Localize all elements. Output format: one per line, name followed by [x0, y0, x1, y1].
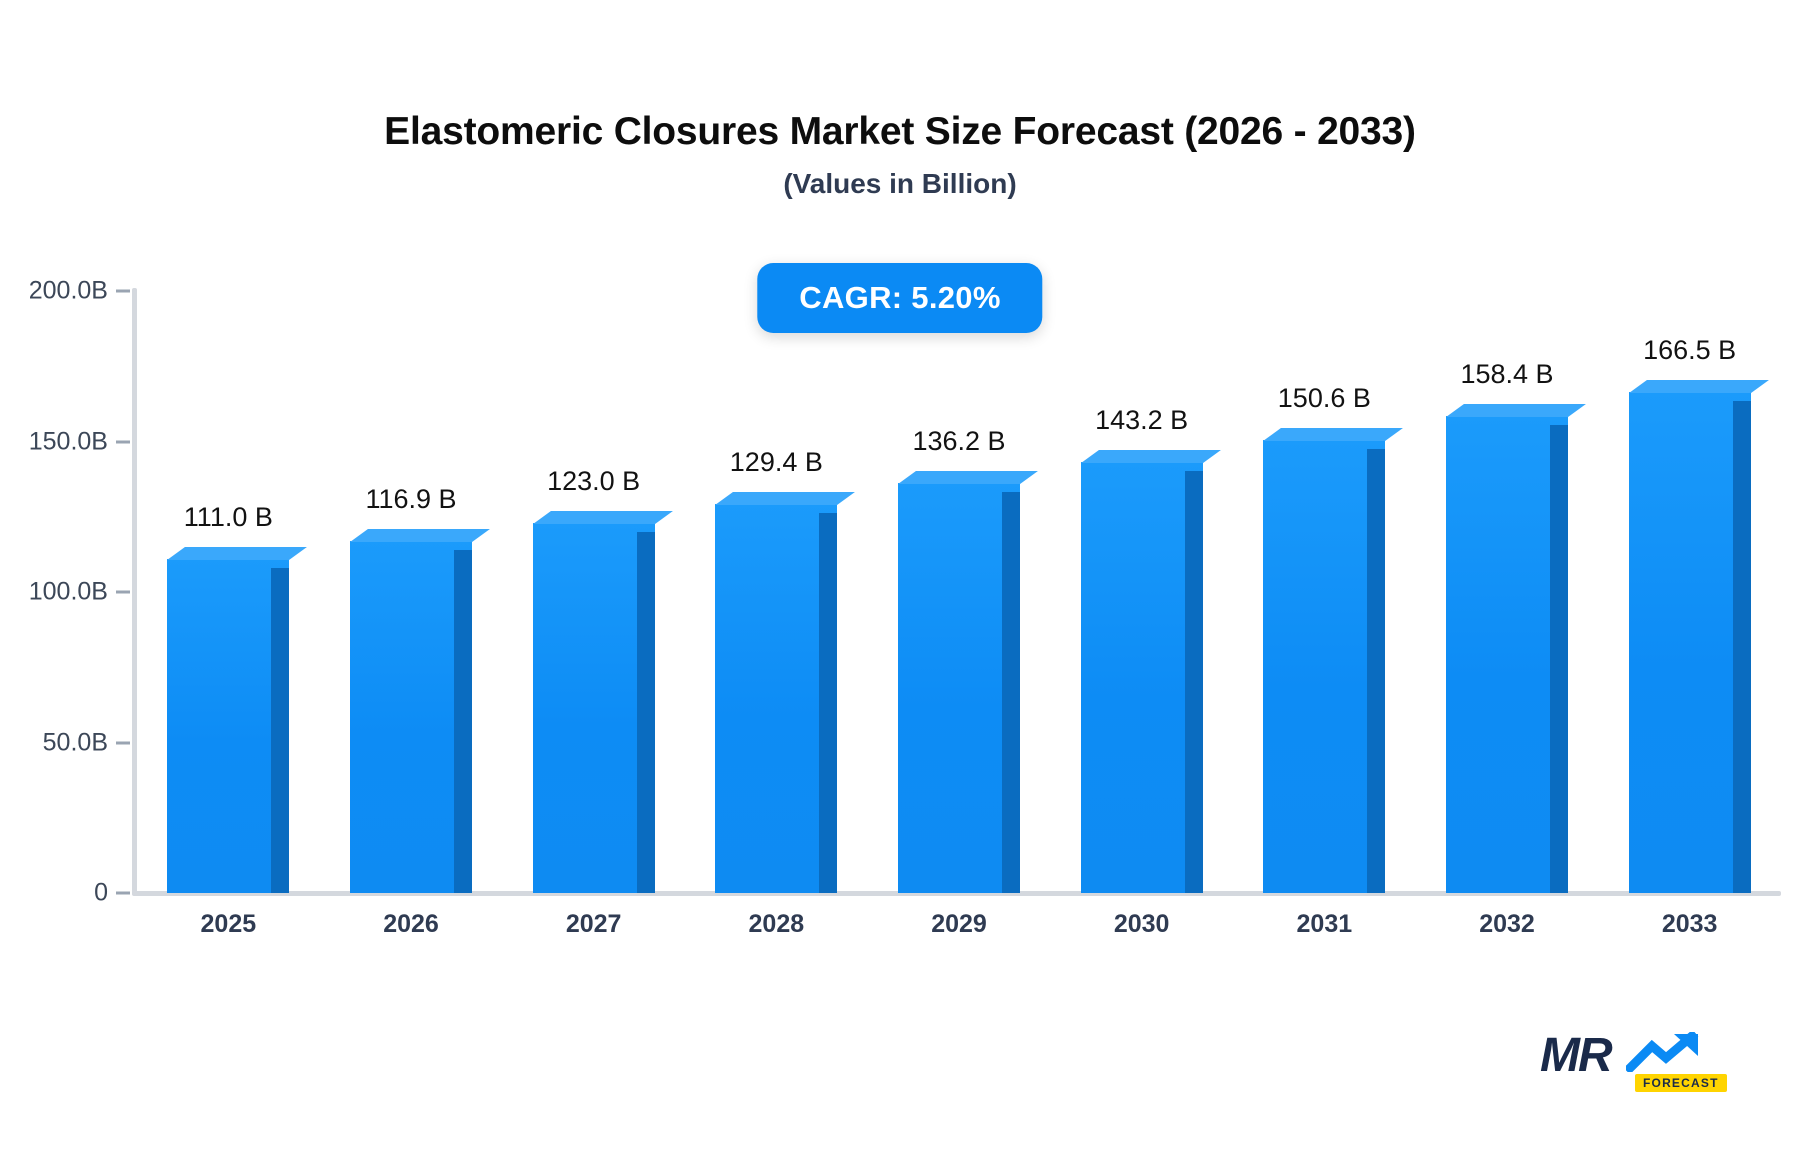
bar[interactable]: 129.4 B [715, 504, 837, 893]
bar-top-face [1263, 428, 1403, 441]
bar[interactable]: 116.9 B [350, 541, 472, 893]
bar-side-face [1367, 449, 1385, 893]
bar-side-face [819, 513, 837, 893]
bar[interactable]: 123.0 B [533, 523, 655, 893]
bar-value-label: 143.2 B [1095, 405, 1188, 436]
bar[interactable]: 158.4 B [1446, 416, 1568, 893]
x-tick-label: 2026 [383, 910, 439, 939]
bar-top-face [350, 529, 490, 542]
bar-side-face [1002, 492, 1020, 893]
plot-area: 050.0B100.0B150.0B200.0B 111.0 B116.9 B1… [0, 0, 1800, 1156]
bar[interactable]: 150.6 B [1263, 440, 1385, 893]
y-tick-mark [116, 892, 130, 895]
bar[interactable]: 143.2 B [1081, 462, 1203, 893]
logo-wordmark: MR [1540, 1030, 1611, 1082]
x-tick-label: 2028 [749, 910, 805, 939]
y-tick-mark [116, 290, 130, 293]
chart-canvas: Elastomeric Closures Market Size Forecas… [0, 0, 1800, 1156]
bar-value-label: 129.4 B [730, 447, 823, 478]
x-tick-label: 2030 [1114, 910, 1170, 939]
y-tick-mark [116, 741, 130, 744]
bar-value-label: 150.6 B [1278, 383, 1371, 414]
y-tick-mark [116, 440, 130, 443]
bar-side-face [1185, 471, 1203, 893]
y-axis-line [132, 288, 137, 895]
y-tick-label: 200.0B [29, 277, 108, 306]
bar-top-face [1446, 404, 1586, 417]
x-tick-label: 2033 [1662, 910, 1718, 939]
bar-value-label: 116.9 B [365, 484, 456, 515]
bar[interactable]: 166.5 B [1629, 392, 1751, 893]
bar-side-face [454, 550, 472, 893]
x-tick-label: 2027 [566, 910, 622, 939]
bar-top-face [533, 511, 673, 524]
bar-side-face [271, 568, 289, 893]
x-tick-label: 2031 [1297, 910, 1353, 939]
bar-top-face [898, 471, 1038, 484]
bar-value-label: 111.0 B [184, 502, 273, 533]
bar-top-face [1629, 380, 1769, 393]
brand-logo: MR FORECAST [1540, 1030, 1712, 1096]
bar-side-face [1733, 401, 1751, 893]
growth-arrow-icon [1626, 1032, 1710, 1072]
bar-value-label: 166.5 B [1643, 335, 1736, 366]
y-tick-label: 0 [94, 879, 108, 908]
logo-tagline: FORECAST [1635, 1074, 1727, 1092]
x-tick-label: 2029 [931, 910, 987, 939]
y-tick-mark [116, 591, 130, 594]
x-tick-label: 2025 [201, 910, 257, 939]
bar-side-face [637, 532, 655, 893]
bar-value-label: 158.4 B [1460, 359, 1553, 390]
bar-top-face [167, 547, 307, 560]
bar[interactable]: 136.2 B [898, 483, 1020, 893]
y-tick-label: 50.0B [43, 728, 108, 757]
bar[interactable]: 111.0 B [167, 559, 289, 893]
x-tick-label: 2032 [1479, 910, 1535, 939]
bar-value-label: 136.2 B [912, 426, 1005, 457]
bar-value-label: 123.0 B [547, 466, 640, 497]
y-tick-label: 100.0B [29, 578, 108, 607]
bar-top-face [715, 492, 855, 505]
y-tick-label: 150.0B [29, 427, 108, 456]
bar-side-face [1550, 425, 1568, 893]
bar-top-face [1081, 450, 1221, 463]
